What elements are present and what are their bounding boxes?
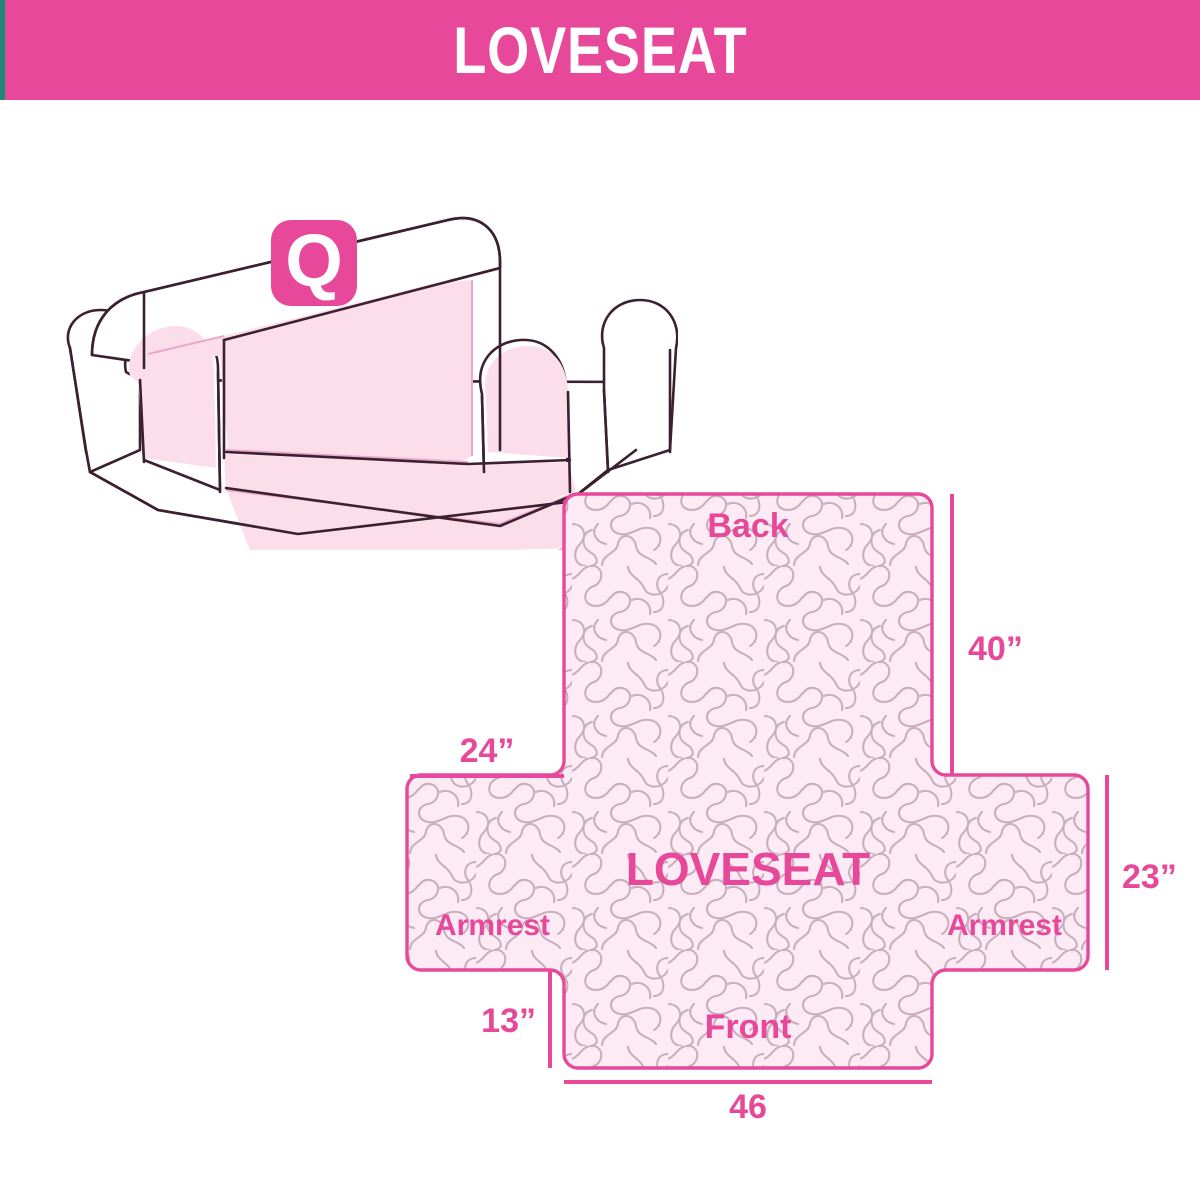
logo-letter: Q [285, 219, 343, 302]
dim-label-armrest-height: 23” [1122, 858, 1177, 896]
header-bar: LOVESEAT [0, 0, 1200, 100]
panel-label-back: Back [707, 507, 788, 545]
panel-label-armrest-left: Armrest [435, 909, 550, 942]
pattern-fill [407, 494, 1088, 1068]
panel-label-armrest-right: Armrest [947, 909, 1062, 942]
dim-label-back-width-offset: 24” [460, 732, 515, 770]
dim-label-back-height: 40” [968, 630, 1023, 668]
flat-pattern-diagram: Back LOVESEAT Armrest Armrest Front 40” … [380, 470, 1200, 1120]
header-accent-strip [0, 0, 5, 100]
panel-label-front: Front [705, 1008, 792, 1046]
brand-logo: Q [271, 219, 357, 306]
page-title: LOVESEAT [453, 17, 747, 83]
dim-label-front-height: 13” [481, 1002, 536, 1040]
panel-label-center: LOVESEAT [626, 843, 871, 895]
dim-label-front-width: 46 [729, 1088, 767, 1120]
